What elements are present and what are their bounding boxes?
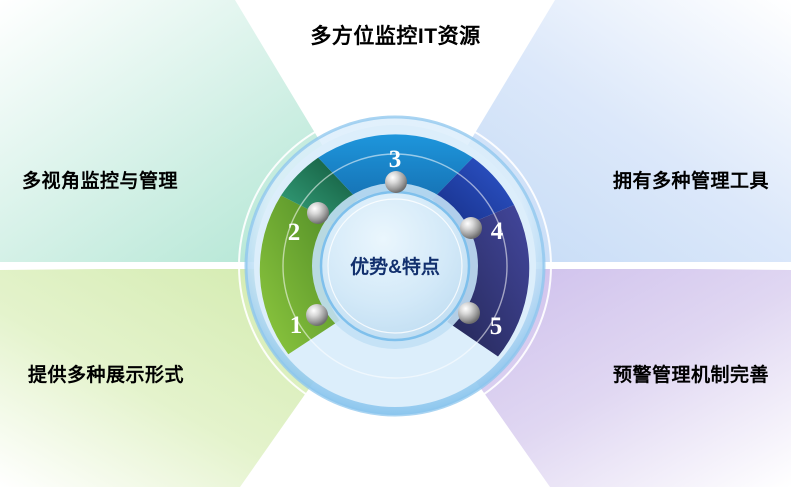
donut-wheel: 1 2 3 4 5 优势&特点: [0, 0, 791, 487]
marker-sphere-2[interactable]: [307, 202, 329, 224]
label-left-bottom: 提供多种展示形式: [28, 366, 184, 385]
main-title: 多方位监控IT资源: [0, 26, 791, 47]
segment-number-3: 3: [389, 146, 402, 173]
segment-number-5: 5: [490, 313, 503, 340]
segment-number-2: 2: [288, 219, 301, 246]
center-label: 优势&特点: [350, 255, 440, 278]
marker-sphere-3[interactable]: [385, 171, 407, 193]
label-left-top: 多视角监控与管理: [22, 172, 178, 191]
marker-sphere-1[interactable]: [306, 304, 328, 326]
infographic-canvas: 1 2 3 4 5 优势&特点 多方位监控IT资源 多视角监控与管理 提供多种展…: [0, 0, 791, 487]
label-right-bottom: 预警管理机制完善: [613, 366, 769, 385]
label-right-top: 拥有多种管理工具: [613, 172, 769, 191]
marker-sphere-4[interactable]: [460, 217, 482, 239]
segment-number-1: 1: [290, 312, 303, 339]
segment-number-4: 4: [491, 218, 504, 245]
marker-sphere-5[interactable]: [458, 302, 480, 324]
